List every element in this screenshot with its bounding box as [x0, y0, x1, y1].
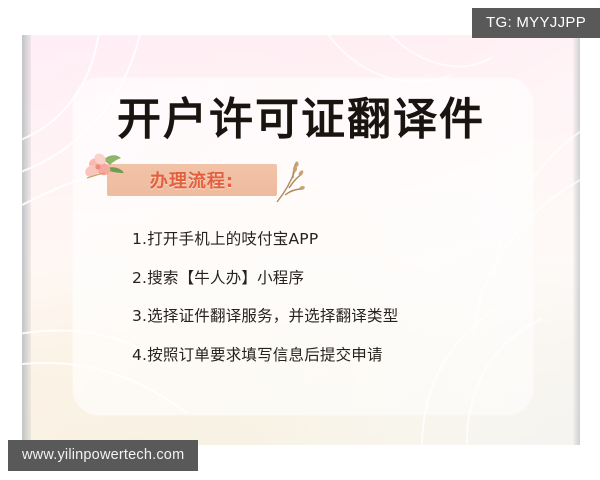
process-badge-label: 办理流程:	[107, 164, 277, 196]
list-item: 2.搜索【牛人办】小程序	[132, 271, 492, 287]
dried-sprig-icon	[271, 158, 313, 204]
telegram-handle-badge: TG: MYYJJPP	[472, 8, 600, 38]
list-item: 4.按照订单要求填写信息后提交申请	[132, 348, 492, 364]
page-title: 开户许可证翻译件	[22, 83, 580, 147]
poster-canvas: 开户许可证翻译件	[22, 35, 580, 445]
steps-list: 1.打开手机上的吱付宝APP 2.搜索【牛人办】小程序 3.选择证件翻译服务，并…	[132, 232, 492, 363]
process-badge: 办理流程:	[85, 160, 300, 200]
list-item: 1.打开手机上的吱付宝APP	[132, 232, 492, 248]
list-item: 3.选择证件翻译服务，并选择翻译类型	[132, 309, 492, 325]
website-url-badge: www.yilinpowertech.com	[8, 440, 198, 471]
